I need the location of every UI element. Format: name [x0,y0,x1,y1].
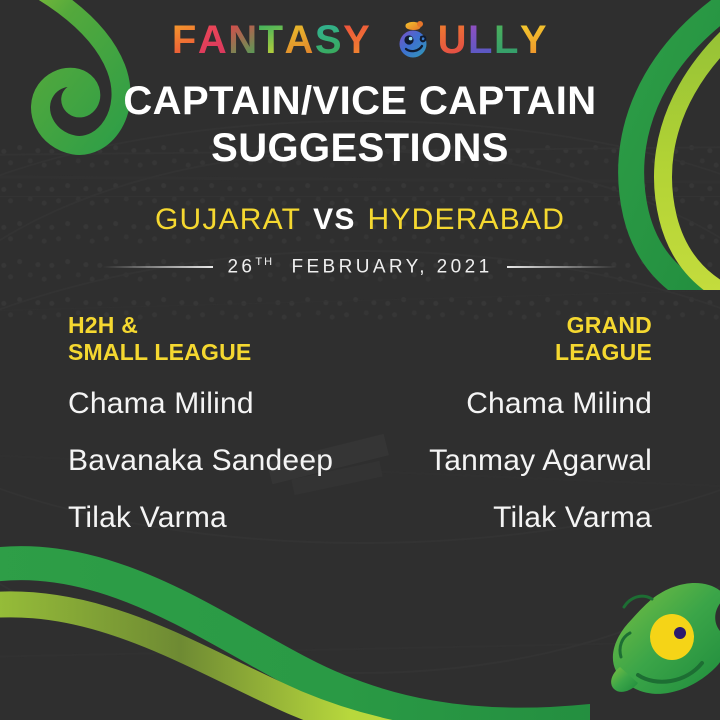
suggestions-columns: H2H & SMALL LEAGUE Chama Milind Bavanaka… [0,312,720,558]
versus-label: VS [313,203,355,236]
stadium-band [0,196,720,197]
logo-letter: L [468,20,494,60]
logo-word-fantasy: FANTASY [172,20,371,60]
column-heading: GRAND LEAGUE [360,312,652,365]
chameleon-face-icon [394,20,432,60]
page-title: CAPTAIN/VICE CAPTAIN SUGGESTIONS [0,78,720,172]
logo-letter: Y [343,20,371,60]
team-away-label: HYDERABAD [368,203,566,236]
list-item: Tilak Varma [360,501,652,535]
divider-right [507,266,617,268]
stadium-band [0,175,720,184]
column-grand-league: GRAND LEAGUE Chama Milind Tanmay Agarwal… [360,312,652,558]
logo-word-ully: ULLY [438,20,548,60]
page-title-line-1: CAPTAIN/VICE CAPTAIN [0,78,720,125]
match-date-text: 26TH FEBRUARY, 2021 [227,256,492,278]
logo-letter: A [198,20,228,60]
logo-letter: S [315,20,343,60]
divider-left [103,266,213,268]
logo-letter: A [285,20,315,60]
logo-letter: L [494,20,520,60]
chameleon-head-decoration [594,571,720,720]
team-home-label: GUJARAT [155,203,301,236]
list-item: Tanmay Agarwal [360,444,652,478]
matchup-line: GUJARATVSHYDERABAD [0,203,720,237]
page-title-line-2: SUGGESTIONS [0,125,720,172]
logo-letter: F [172,20,198,60]
match-date-row: 26TH FEBRUARY, 2021 [0,256,720,278]
date-ordinal: TH [255,256,274,268]
list-item: Chama Milind [360,387,652,421]
logo-letter: U [438,20,468,60]
logo-letter: N [228,20,258,60]
poster-canvas: FANTASY [0,0,720,720]
column-heading: H2H & SMALL LEAGUE [68,312,360,365]
logo-letter: T [259,20,285,60]
list-item: Tilak Varma [68,501,360,535]
column-h2h-small-league: H2H & SMALL LEAGUE Chama Milind Bavanaka… [68,312,360,558]
stadium-band [0,640,720,659]
date-day: 26 [227,256,255,277]
list-item: Chama Milind [68,387,360,421]
date-month-year: FEBRUARY, 2021 [291,256,492,277]
list-item: Bavanaka Sandeep [68,444,360,478]
brand-logo[interactable]: FANTASY [0,20,720,60]
stadium-band [0,289,720,312]
logo-letter: Y [520,20,548,60]
